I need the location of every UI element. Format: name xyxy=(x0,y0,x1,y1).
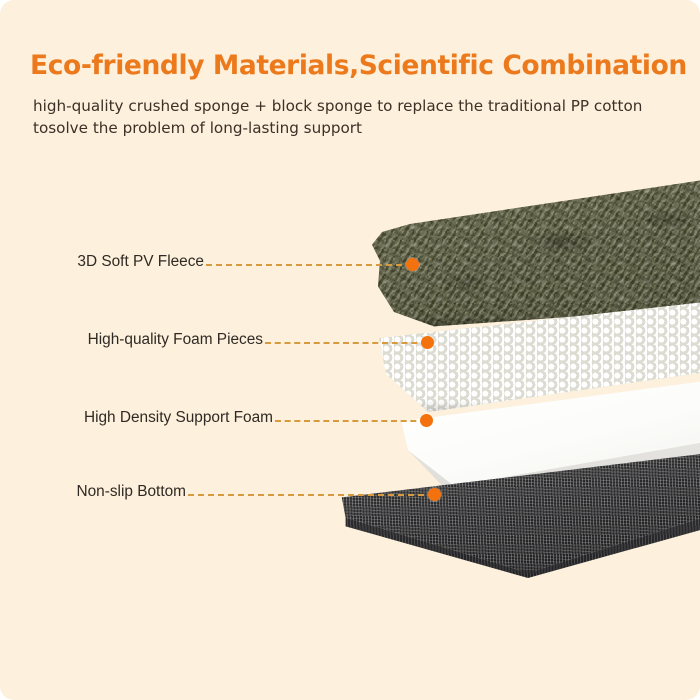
marker-dot-icon xyxy=(421,336,434,349)
marker-dot-icon xyxy=(420,414,433,427)
callout-label: High-quality Foam Pieces xyxy=(88,331,265,349)
layer-non-slip-bottom xyxy=(338,452,700,578)
leader-line xyxy=(275,420,426,422)
leader-line xyxy=(206,264,412,266)
marker-dot-icon xyxy=(406,258,419,271)
non-slip-weave-surface xyxy=(338,452,700,578)
leader-line xyxy=(188,494,434,496)
marker-dot-icon xyxy=(428,488,441,501)
leader-line xyxy=(265,342,427,344)
exploded-layer-stack xyxy=(0,0,700,700)
callout-label: 3D Soft PV Fleece xyxy=(77,253,206,271)
callout-label: Non-slip Bottom xyxy=(77,483,189,501)
product-infographic: Eco-friendly Materials,Scientific Combin… xyxy=(0,0,700,700)
callout-label: High Density Support Foam xyxy=(84,409,275,427)
